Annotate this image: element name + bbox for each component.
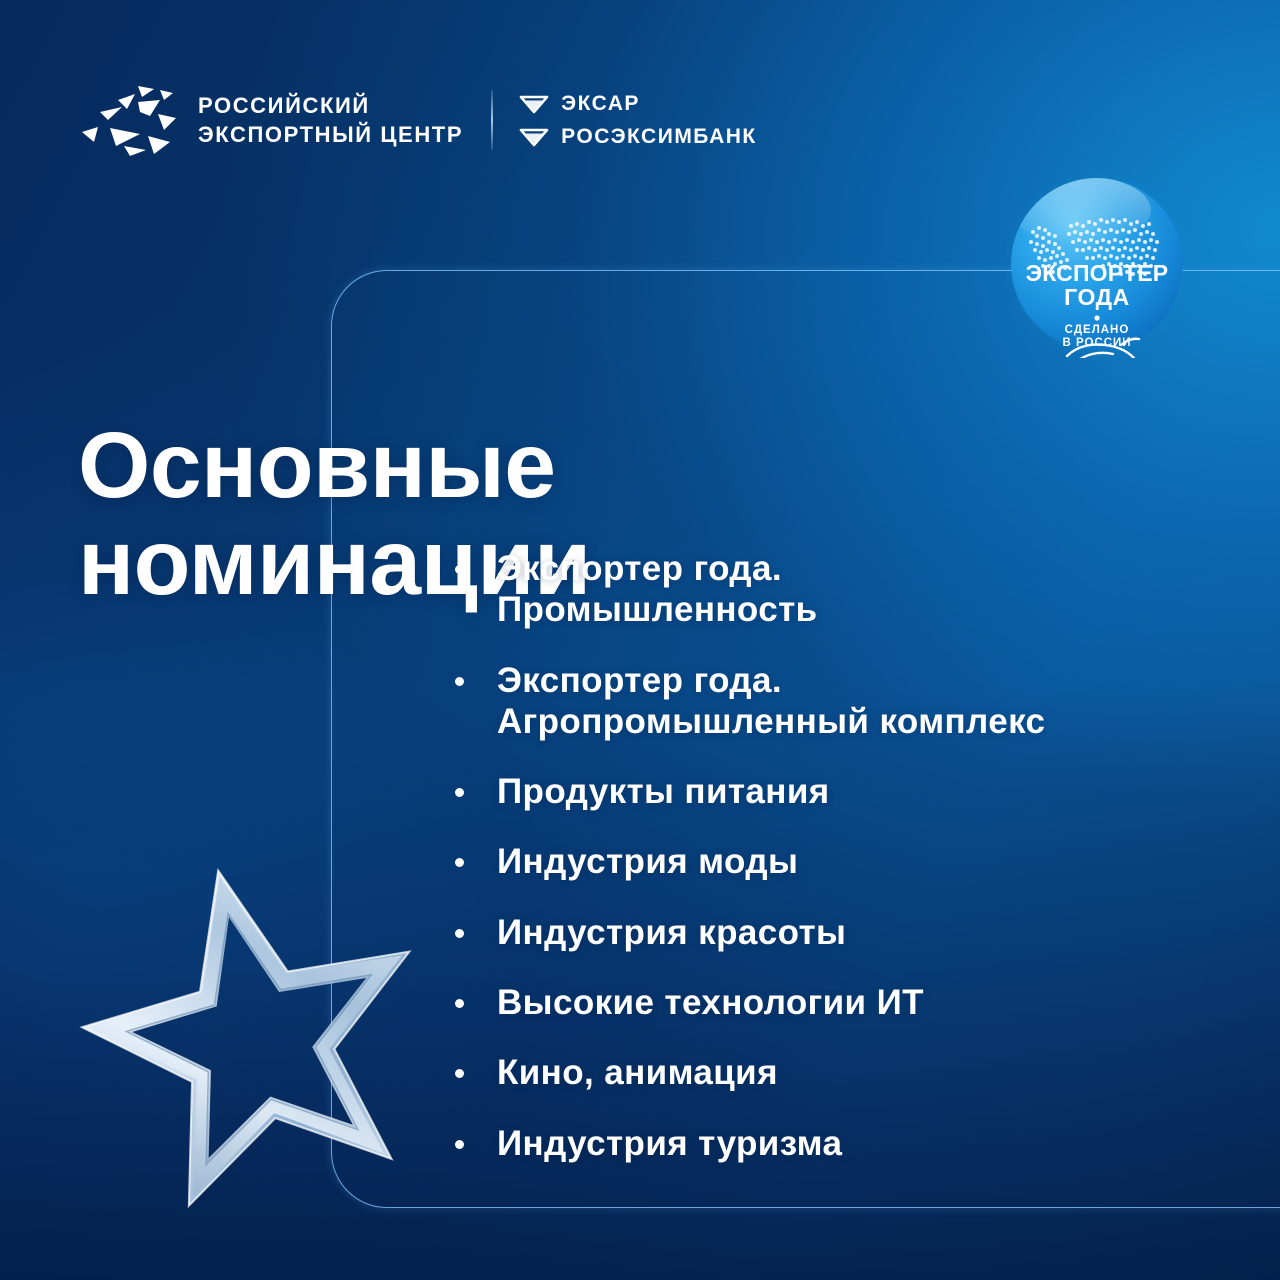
- nomination-label: Индустрия красоты: [497, 912, 846, 953]
- bullet-icon: [455, 788, 464, 797]
- bullet-icon: [455, 858, 464, 867]
- list-item: Экспортер года. Промышленность: [455, 548, 1225, 631]
- nomination-label: Экспортер года. Промышленность: [497, 548, 818, 631]
- nomination-label: Экспортер года. Агропромышленный комплек…: [497, 660, 1045, 743]
- list-item: Высокие технологии ИТ: [455, 982, 1225, 1023]
- nomination-label: Продукты питания: [497, 771, 830, 812]
- rec-brand-name: РОССИЙСКИЙ ЭКСПОРТНЫЙ ЦЕНТР: [198, 91, 463, 149]
- sub-brand-exar: ЭКСАР: [519, 92, 757, 116]
- nomination-label: Индустрия моды: [497, 841, 798, 882]
- badge-title-line2: ГОДА: [1064, 284, 1130, 310]
- bullet-icon: [455, 999, 464, 1008]
- star-outline-3d-icon: [58, 848, 458, 1243]
- nominations-list: Экспортер года. Промышленность Экспортер…: [455, 548, 1225, 1193]
- list-item: Индустрия туризма: [455, 1123, 1225, 1164]
- globe-award-badge-icon: ЭКСПОРТЕР ГОДА СДЕЛАНО В РОССИИ: [1003, 170, 1191, 358]
- list-item: Продукты питания: [455, 771, 1225, 812]
- badge-subtitle-line2: В РОССИИ: [1062, 337, 1131, 349]
- bullet-icon: [455, 565, 464, 574]
- bullet-icon: [455, 1140, 464, 1149]
- badge-subtitle-line1: СДЕЛАНО: [1065, 324, 1130, 336]
- slide-canvas: РОССИЙСКИЙ ЭКСПОРТНЫЙ ЦЕНТР ЭКСАР РОСЭКС…: [0, 0, 1280, 1280]
- badge-separator-dot: [1094, 315, 1099, 320]
- list-item: Индустрия красоты: [455, 912, 1225, 953]
- bullet-icon: [455, 1069, 464, 1078]
- nomination-label: Индустрия туризма: [497, 1123, 842, 1164]
- sub-brand-exar-label: ЭКСАР: [561, 92, 640, 116]
- bullet-icon: [455, 929, 464, 938]
- sub-brand-list: ЭКСАР РОСЭКСИМБАНК: [519, 92, 757, 149]
- logo-divider: [491, 90, 493, 150]
- triangle-down-icon: [519, 94, 549, 114]
- sub-brand-roseximbank-label: РОСЭКСИМБАНК: [561, 125, 757, 149]
- triangle-down-icon: [519, 127, 549, 147]
- list-item: Кино, анимация: [455, 1052, 1225, 1093]
- nomination-label: Высокие технологии ИТ: [497, 982, 924, 1023]
- nomination-label: Кино, анимация: [497, 1052, 778, 1093]
- list-item: Индустрия моды: [455, 841, 1225, 882]
- rec-brand-line2: ЭКСПОРТНЫЙ ЦЕНТР: [198, 120, 463, 149]
- bullet-icon: [455, 677, 464, 686]
- rec-shards-logo-icon: [78, 84, 182, 156]
- badge-title-line1: ЭКСПОРТЕР: [1026, 260, 1169, 286]
- sub-brand-roseximbank: РОСЭКСИМБАНК: [519, 125, 757, 149]
- brand-header: РОССИЙСКИЙ ЭКСПОРТНЫЙ ЦЕНТР ЭКСАР РОСЭКС…: [78, 84, 757, 156]
- list-item: Экспортер года. Агропромышленный комплек…: [455, 660, 1225, 743]
- rec-brand-line1: РОССИЙСКИЙ: [198, 91, 463, 120]
